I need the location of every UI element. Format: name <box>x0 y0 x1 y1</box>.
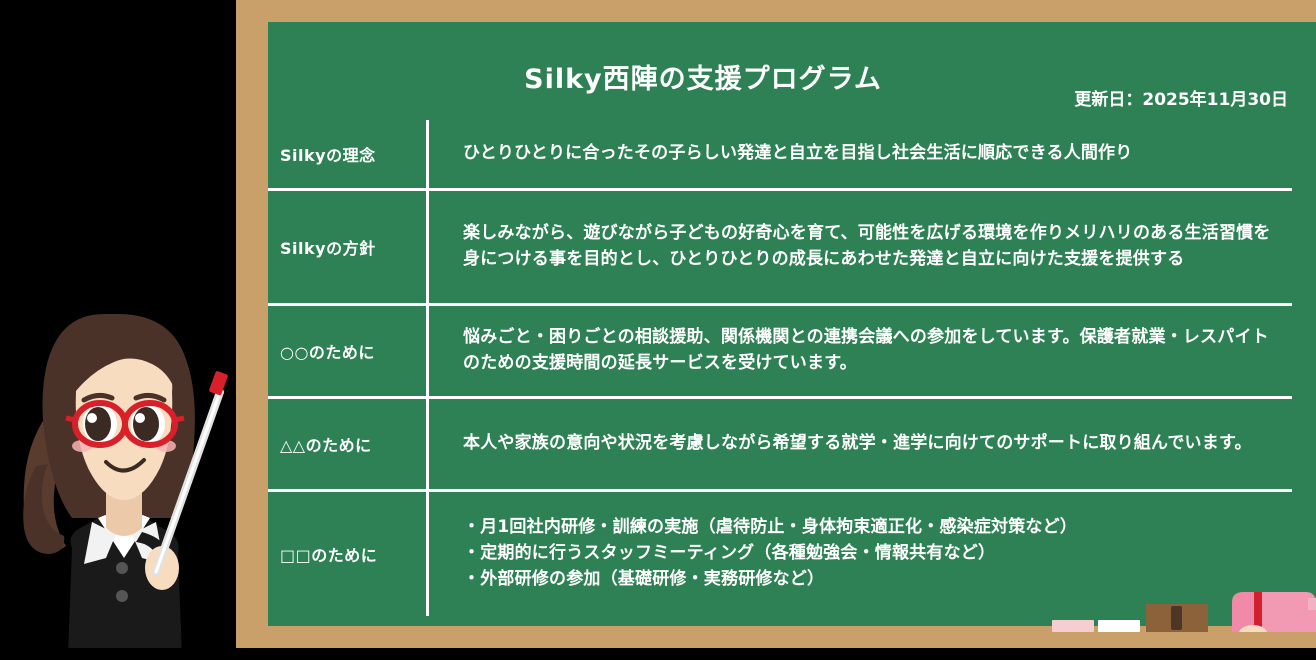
row-content: 本人や家族の意向や状況を考慮しながら希望する就学・進学に向けてのサポートに取り組… <box>429 399 1292 489</box>
teacher-illustration <box>6 296 238 656</box>
row-content: ・月1回社内研修・訓練の実施（虐待防止・身体拘束適正化・感染症対策など） ・定期… <box>429 492 1292 616</box>
table-row: □□のために ・月1回社内研修・訓練の実施（虐待防止・身体拘束適正化・感染症対策… <box>268 492 1292 616</box>
bottom-border <box>0 648 1316 656</box>
suit-button <box>116 562 128 574</box>
row-label: ○○のために <box>268 306 426 396</box>
eraser-grip-icon <box>1171 606 1182 630</box>
chalk-pink-icon <box>1052 620 1094 632</box>
table-row: Silkyの方針 楽しみながら、遊びながら子どもの好奇心を育て、可能性を広げる環… <box>268 191 1292 306</box>
row-text: ひとりひとりに合ったその子らしい発達と自立を目指し社会生活に順応できる人間作り <box>463 141 1274 167</box>
row-content: 楽しみながら、遊びながら子どもの好奇心を育て、可能性を広げる環境を作りメリハリの… <box>429 191 1292 303</box>
row-label: □□のために <box>268 492 426 616</box>
row-text: 本人や家族の意向や状況を考慮しながら希望する就学・進学に向けてのサポートに取り組… <box>463 431 1274 457</box>
bullet-item: ・月1回社内研修・訓練の実施（虐待防止・身体拘束適正化・感染症対策など） <box>463 515 1274 541</box>
bullet-item: ・定期的に行うスタッフミーティング（各種勉強会・情報共有など） <box>463 541 1274 567</box>
table-row: Silkyの理念 ひとりひとりに合ったその子らしい発達と自立を目指し社会生活に順… <box>268 120 1292 191</box>
table-row: ○○のために 悩みごと・困りごとの相談援助、関係機関との連携会議への参加をしてい… <box>268 306 1292 399</box>
table-row: △△のために 本人や家族の意向や状況を考慮しながら希望する就学・進学に向けてのサ… <box>268 399 1292 492</box>
side-figure-illustration <box>1228 592 1316 632</box>
row-label: Silkyの方針 <box>268 191 426 303</box>
row-content: ひとりひとりに合ったその子らしい発達と自立を目指し社会生活に順応できる人間作り <box>429 120 1292 188</box>
program-table: Silkyの理念 ひとりひとりに合ったその子らしい発達と自立を目指し社会生活に順… <box>268 120 1292 616</box>
row-text: 楽しみながら、遊びながら子どもの好奇心を育て、可能性を広げる環境を作りメリハリの… <box>463 221 1274 273</box>
row-label: △△のために <box>268 399 426 489</box>
bullet-item: ・外部研修の参加（基礎研修・実務研修など） <box>463 567 1274 593</box>
screenshot-root: Silky西陣の支援プログラム 更新日：2025年11月30日 Silkyの理念… <box>0 0 1316 656</box>
updated-date-label: 更新日：2025年11月30日 <box>1074 85 1288 110</box>
row-text: 悩みごと・困りごとの相談援助、関係機関との連携会議への参加をしています。保護者就… <box>463 325 1274 377</box>
suit-button <box>116 590 128 602</box>
row-label: Silkyの理念 <box>268 120 426 188</box>
chalk-white-icon <box>1098 620 1140 632</box>
row-content: 悩みごと・困りごとの相談援助、関係機関との連携会議への参加をしています。保護者就… <box>429 306 1292 396</box>
page-title: Silky西陣の支援プログラム <box>268 57 1138 96</box>
